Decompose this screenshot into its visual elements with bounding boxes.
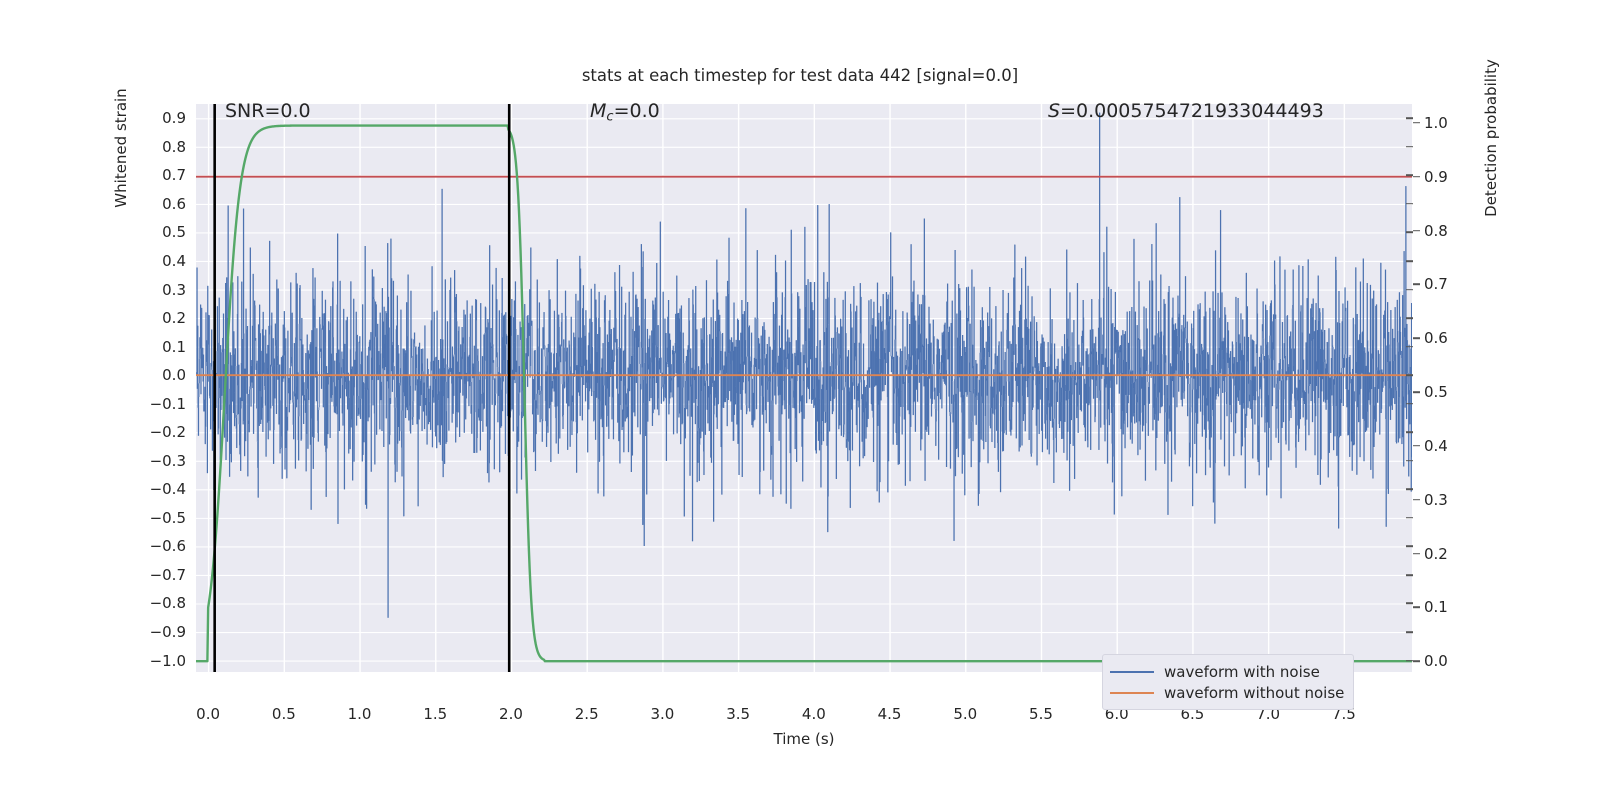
y-tick-mark-right — [1413, 553, 1420, 555]
legend-label: waveform without noise — [1164, 684, 1344, 702]
plot-area — [196, 104, 1412, 672]
y-tick-label-left: 0.1 — [162, 338, 186, 356]
y-tick-label-left: −1.0 — [150, 652, 186, 670]
y-tick-label-left: 0.5 — [162, 223, 186, 241]
y-tick-mark-right — [1413, 337, 1420, 339]
y-tick-label-left: 0.0 — [162, 366, 186, 384]
y-axis-label-right: Detection probability — [1482, 8, 1500, 268]
y-tick-mark-left — [1406, 374, 1413, 376]
chart-title: stats at each timestep for test data 442… — [0, 66, 1600, 85]
chirp-mass-value: =0.0 — [614, 100, 660, 122]
x-tick-label: 1.0 — [348, 705, 372, 723]
y-tick-label-left: 0.6 — [162, 195, 186, 213]
x-tick-label: 1.5 — [423, 705, 447, 723]
y-tick-mark-left — [1406, 203, 1413, 205]
legend-item[interactable]: waveform with noise — [1110, 661, 1344, 682]
annotation-score: S=0.0005754721933044493 — [1048, 100, 1324, 122]
x-tick-label: 4.0 — [802, 705, 826, 723]
legend-swatch-waveform-with-noise — [1110, 671, 1154, 673]
y-tick-label-right: 0.2 — [1424, 545, 1448, 563]
y-tick-mark-left — [1406, 346, 1413, 348]
y-tick-mark-right — [1413, 607, 1420, 609]
y-tick-mark-left — [1406, 574, 1413, 576]
y-axis-label-left: Whitened strain — [112, 28, 130, 268]
x-tick-label: 2.5 — [575, 705, 599, 723]
figure: stats at each timestep for test data 442… — [0, 0, 1600, 800]
annotation-snr: SNR=0.0 — [225, 100, 311, 122]
chirp-mass-symbol: M — [590, 100, 606, 122]
y-tick-label-right: 0.1 — [1424, 598, 1448, 616]
y-tick-label-left: 0.4 — [162, 252, 186, 270]
legend: waveform with noise waveform without noi… — [1102, 654, 1354, 710]
legend-item[interactable]: waveform without noise — [1110, 682, 1344, 703]
x-tick-label: 4.5 — [878, 705, 902, 723]
x-tick-label: 3.5 — [726, 705, 750, 723]
y-tick-mark-left — [1406, 146, 1413, 148]
y-tick-mark-right — [1413, 391, 1420, 393]
y-tick-label-right: 0.9 — [1424, 168, 1448, 186]
y-tick-mark-right — [1413, 445, 1420, 447]
y-tick-label-right: 1.0 — [1424, 114, 1448, 132]
y-tick-mark-left — [1406, 546, 1413, 548]
y-tick-label-left: 0.8 — [162, 138, 186, 156]
x-tick-label: 0.5 — [272, 705, 296, 723]
y-tick-mark-right — [1413, 284, 1420, 286]
y-tick-label-right: 0.6 — [1424, 329, 1448, 347]
waveform-canvas — [196, 104, 1412, 672]
legend-label: waveform with noise — [1164, 663, 1320, 681]
y-tick-label-right: 0.3 — [1424, 491, 1448, 509]
y-tick-mark-left — [1406, 517, 1413, 519]
y-tick-label-left: 0.7 — [162, 166, 186, 184]
chirp-mass-subscript: c — [606, 109, 613, 124]
legend-swatch-waveform-without-noise — [1110, 692, 1154, 694]
y-tick-mark-left — [1406, 117, 1413, 119]
y-tick-mark-left — [1406, 631, 1413, 633]
x-axis-label: Time (s) — [196, 730, 1412, 748]
annotation-chirp-mass: Mc=0.0 — [590, 100, 660, 124]
y-tick-mark-left — [1406, 175, 1413, 177]
y-tick-label-left: −0.4 — [150, 480, 186, 498]
x-tick-label: 2.0 — [499, 705, 523, 723]
y-tick-label-left: 0.3 — [162, 281, 186, 299]
y-tick-mark-left — [1406, 403, 1413, 405]
x-tick-label: 5.5 — [1029, 705, 1053, 723]
y-tick-label-left: −0.1 — [150, 395, 186, 413]
y-tick-mark-right — [1413, 499, 1420, 501]
y-tick-mark-right — [1413, 230, 1420, 232]
y-tick-mark-left — [1406, 232, 1413, 234]
y-tick-label-left: −0.6 — [150, 537, 186, 555]
x-tick-label: 3.0 — [650, 705, 674, 723]
y-tick-label-right: 0.8 — [1424, 222, 1448, 240]
y-tick-mark-right — [1413, 176, 1420, 178]
y-tick-label-right: 0.4 — [1424, 437, 1448, 455]
x-tick-label: 5.0 — [953, 705, 977, 723]
y-tick-mark-left — [1406, 603, 1413, 605]
score-value: =0.0005754721933044493 — [1060, 100, 1324, 122]
y-tick-label-right: 0.0 — [1424, 652, 1448, 670]
y-tick-mark-left — [1406, 431, 1413, 433]
x-tick-label: 0.0 — [196, 705, 220, 723]
y-tick-mark-left — [1406, 460, 1413, 462]
y-tick-label-left: −0.2 — [150, 423, 186, 441]
y-tick-mark-left — [1406, 489, 1413, 491]
y-tick-mark-left — [1406, 317, 1413, 319]
y-tick-mark-right — [1413, 660, 1420, 662]
y-tick-label-left: −0.3 — [150, 452, 186, 470]
y-tick-mark-right — [1413, 122, 1420, 124]
y-tick-mark-left — [1406, 260, 1413, 262]
y-tick-label-left: −0.9 — [150, 623, 186, 641]
y-tick-mark-left — [1406, 660, 1413, 662]
y-tick-mark-left — [1406, 289, 1413, 291]
y-tick-label-left: 0.9 — [162, 109, 186, 127]
y-tick-label-right: 0.7 — [1424, 275, 1448, 293]
y-tick-label-left: −0.8 — [150, 594, 186, 612]
y-tick-label-left: −0.7 — [150, 566, 186, 584]
y-tick-label-left: −0.5 — [150, 509, 186, 527]
y-tick-label-left: 0.2 — [162, 309, 186, 327]
y-tick-label-right: 0.5 — [1424, 383, 1448, 401]
score-symbol: S — [1048, 100, 1060, 122]
